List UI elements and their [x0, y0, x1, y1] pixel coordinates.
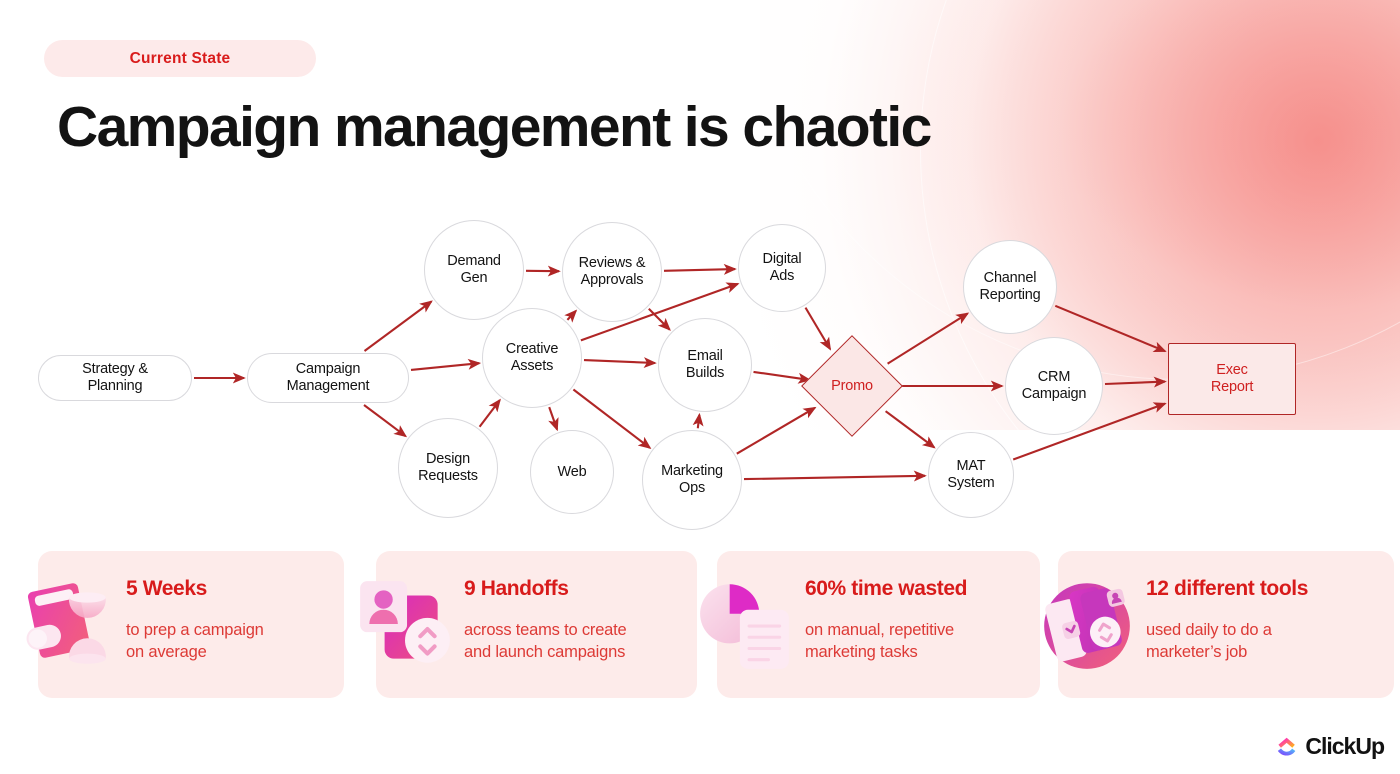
diagram-node-label: Marketing Ops [661, 463, 723, 496]
diagram-node-label: Channel Reporting [979, 270, 1040, 303]
stat-value: 60% time wasted [805, 577, 1030, 601]
diagram-node-campaign: Campaign Management [247, 353, 409, 403]
diagram-node-channel: Channel Reporting [963, 240, 1057, 334]
diagram-node-label: Exec Report [1211, 362, 1253, 395]
workflow-diagram: Strategy & PlanningCampaign ManagementDe… [0, 200, 1400, 540]
diagram-node-label: Email Builds [686, 348, 724, 381]
eyebrow-badge: Current State [44, 40, 316, 77]
diagram-edge-creative-to-web [549, 407, 557, 429]
diagram-node-mktops: Marketing Ops [642, 430, 742, 530]
diagram-node-label: Demand Gen [447, 253, 501, 286]
stat-description: to prep a campaign on average [126, 619, 334, 664]
diagram-node-demand: Demand Gen [424, 220, 524, 320]
diagram-edge-reviews-to-digital [664, 269, 735, 271]
pie-doc-icon [695, 573, 797, 675]
stat-value: 5 Weeks [126, 577, 334, 601]
diagram-edge-design-to-creative [480, 400, 500, 427]
diagram-node-label: Creative Assets [506, 341, 558, 374]
diagram-edge-mktops-to-email [698, 415, 700, 429]
diagram-node-label: Design Requests [418, 451, 478, 484]
diagram-node-label: Strategy & Planning [82, 361, 148, 394]
stat-card: 9 Handoffsacross teams to create and lau… [376, 551, 697, 698]
stat-value: 9 Handoffs [464, 577, 687, 601]
stat-card: 12 different toolsused daily to do a mar… [1058, 551, 1394, 698]
diagram-node-label: MAT System [947, 458, 994, 491]
diagram-node-web: Web [530, 430, 614, 514]
stat-card-text: 60% time wastedon manual, repetitive mar… [805, 577, 1030, 664]
diagram-node-label: Reviews & Approvals [579, 255, 646, 288]
stat-card-text: 12 different toolsused daily to do a mar… [1146, 577, 1384, 664]
diagram-edge-campaign-to-demand [365, 302, 432, 352]
diagram-node-mat: MAT System [928, 432, 1014, 518]
diagram-node-label: Web [558, 464, 587, 481]
diagram-node-email: Email Builds [658, 318, 752, 412]
stat-card-text: 9 Handoffsacross teams to create and lau… [464, 577, 687, 664]
diagram-node-label: CRM Campaign [1022, 369, 1087, 402]
stat-description: across teams to create and launch campai… [464, 619, 687, 664]
diagram-edge-campaign-to-creative [411, 363, 479, 370]
stat-card: 60% time wastedon manual, repetitive mar… [717, 551, 1040, 698]
diagram-node-digital: Digital Ads [738, 224, 826, 312]
diagram-node-reviews: Reviews & Approvals [562, 222, 662, 322]
diagram-node-label: Campaign Management [287, 361, 370, 394]
handoff-person-card-icon [354, 573, 456, 675]
stat-value: 12 different tools [1146, 577, 1384, 601]
multi-tools-icon [1036, 573, 1138, 675]
diagram-edge-crm-to-exec [1105, 382, 1165, 384]
diagram-node-promo: Promo [800, 334, 904, 438]
diagram-node-crm: CRM Campaign [1005, 337, 1103, 435]
clickup-logo-icon [1276, 736, 1298, 758]
diagram-node-label: Digital Ads [763, 251, 802, 284]
diagram-node-strategy: Strategy & Planning [38, 355, 192, 401]
clickup-wordmark: ClickUp [1305, 733, 1384, 760]
hourglass-card-icon [16, 573, 118, 675]
clickup-logo: ClickUp [1276, 733, 1384, 760]
diagram-node-design: Design Requests [398, 418, 498, 518]
stat-cards: 5 Weeksto prep a campaign on average 9 H… [0, 551, 1400, 698]
diagram-edge-creative-to-email [584, 360, 655, 363]
stat-card: 5 Weeksto prep a campaign on average [38, 551, 344, 698]
stat-card-text: 5 Weeksto prep a campaign on average [126, 577, 334, 664]
diagram-node-exec: Exec Report [1168, 343, 1296, 415]
diagram-edge-creative-to-reviews [567, 311, 576, 320]
stat-description: on manual, repetitive marketing tasks [805, 619, 1030, 664]
stat-description: used daily to do a marketer’s job [1146, 619, 1384, 664]
page-title: Campaign management is chaotic [57, 94, 931, 160]
diagram-node-label: Promo [831, 378, 873, 395]
diagram-node-creative: Creative Assets [482, 308, 582, 408]
eyebrow-label: Current State [130, 50, 231, 68]
diagram-edge-campaign-to-design [364, 405, 406, 436]
diagram-edge-mktops-to-mat [744, 476, 925, 479]
